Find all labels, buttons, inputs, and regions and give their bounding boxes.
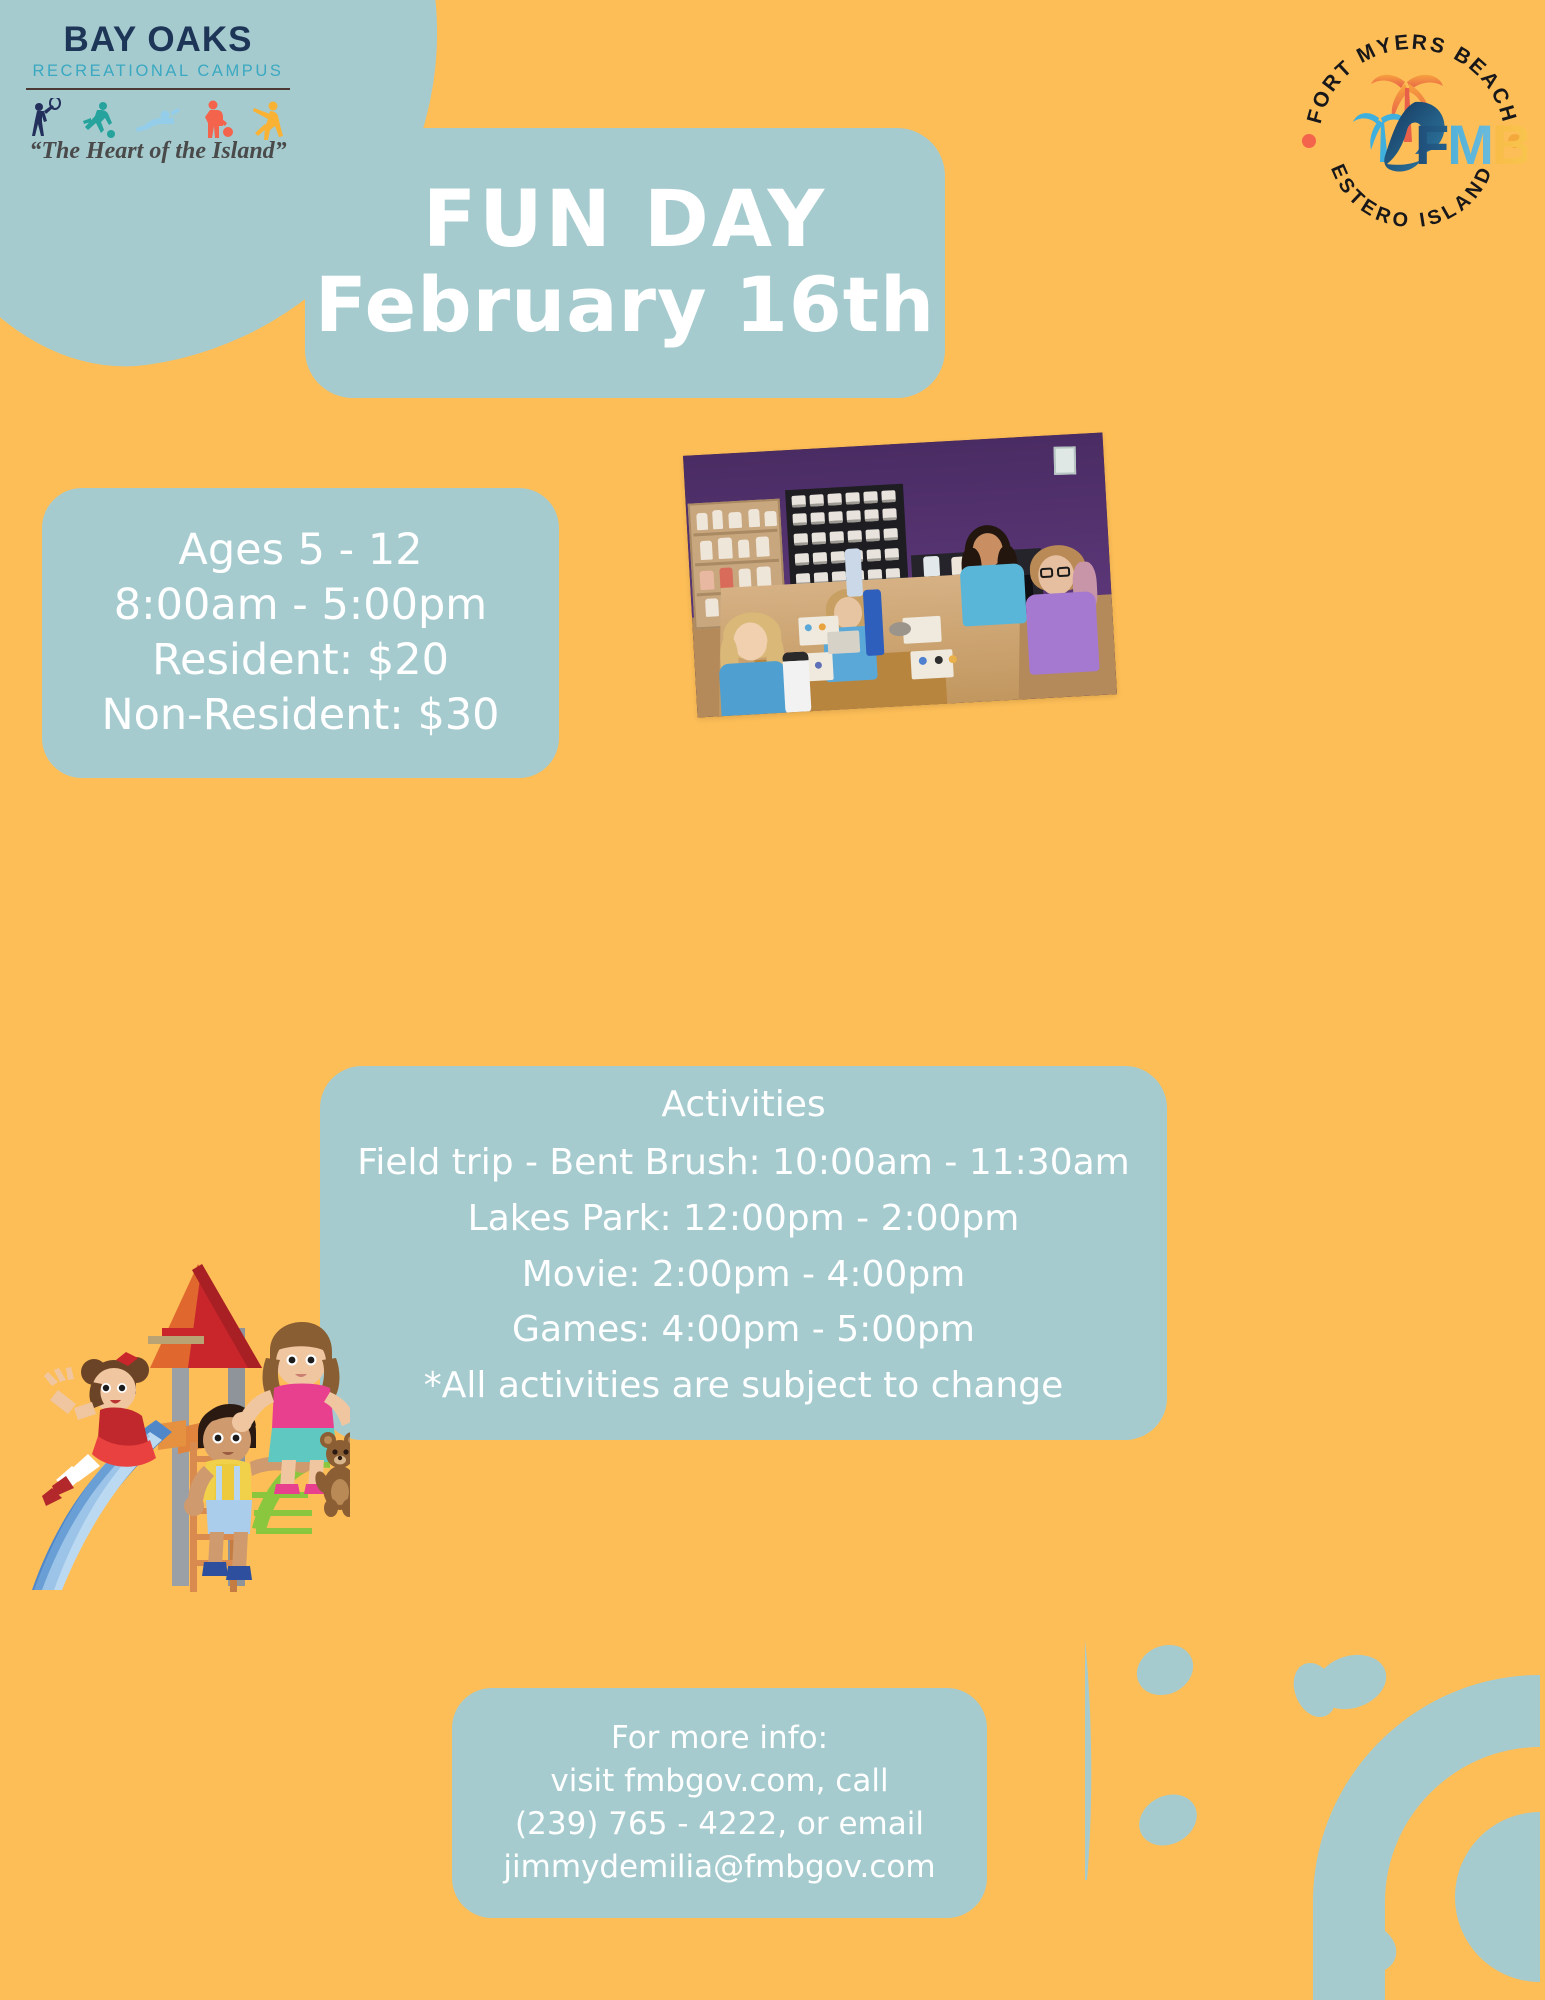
activity-line-field-trip: Field trip - Bent Brush: 10:00am - 11:30… [357,1135,1130,1191]
activity-line-lakes-park: Lakes Park: 12:00pm - 2:00pm [468,1191,1020,1247]
logo-subtitle: RECREATIONAL CAMPUS [18,62,298,81]
playground-roof [148,1264,262,1368]
details-card: Ages 5 - 12 8:00am - 5:00pm Resident: $2… [42,488,559,778]
activities-title: Activities [661,1084,825,1125]
logo-sport-figures [18,90,298,136]
badge-monogram: FMB [1415,113,1527,176]
soccer-figure-icon [77,98,121,142]
logo-title: BAY OAKS [18,22,298,57]
photo-child-purple [1019,542,1115,697]
fmb-badge-logo: FORT MYERS BEACH ESTERO ISLAND FMB [1297,14,1527,244]
basketball-figure-icon [191,98,235,142]
activities-card: Activities Field trip - Bent Brush: 10:0… [320,1066,1167,1440]
detail-line-resident: Resident: $20 [152,633,449,688]
bottom-right-swirl [1085,1580,1545,2000]
badge-left-dot [1302,134,1316,148]
detail-line-hours: 8:00am - 5:00pm [114,578,487,633]
activities-disclaimer: *All activities are subject to change [424,1358,1063,1414]
playground-illustration [30,1210,350,1600]
tennis-figure-icon [22,98,66,142]
headline-line-2: February 16th [315,265,935,345]
baseball-figure-icon [246,98,294,142]
contact-card: For more info: visit fmbgov.com, call (2… [452,1688,987,1918]
activity-photo [683,432,1117,717]
activity-line-movie: Movie: 2:00pm - 4:00pm [522,1247,966,1303]
photo-water-bottle-blue [863,589,885,656]
contact-line-website: visit fmbgov.com, call [550,1760,888,1803]
photo-water-bottle-white [782,651,811,714]
bay-oaks-logo: BAY OAKS RECREATIONAL CAMPUS [18,22,298,165]
headline-line-1: FUN DAY [423,181,827,259]
contact-line-email: jimmydemilia@fmbgov.com [503,1846,935,1889]
detail-line-ages: Ages 5 - 12 [178,523,422,578]
photo-bottle-light [844,548,863,597]
contact-line-phone: (239) 765 - 4222, or email [515,1803,924,1846]
swimmer-figure-icon [132,98,180,142]
logo-tagline: “The Heart of the Island” [18,138,298,165]
contact-line-heading: For more info: [611,1717,828,1760]
activity-line-games: Games: 4:00pm - 5:00pm [512,1302,975,1358]
detail-line-non-resident: Non-Resident: $30 [101,688,499,743]
headline-card: FUN DAY February 16th [305,128,945,398]
